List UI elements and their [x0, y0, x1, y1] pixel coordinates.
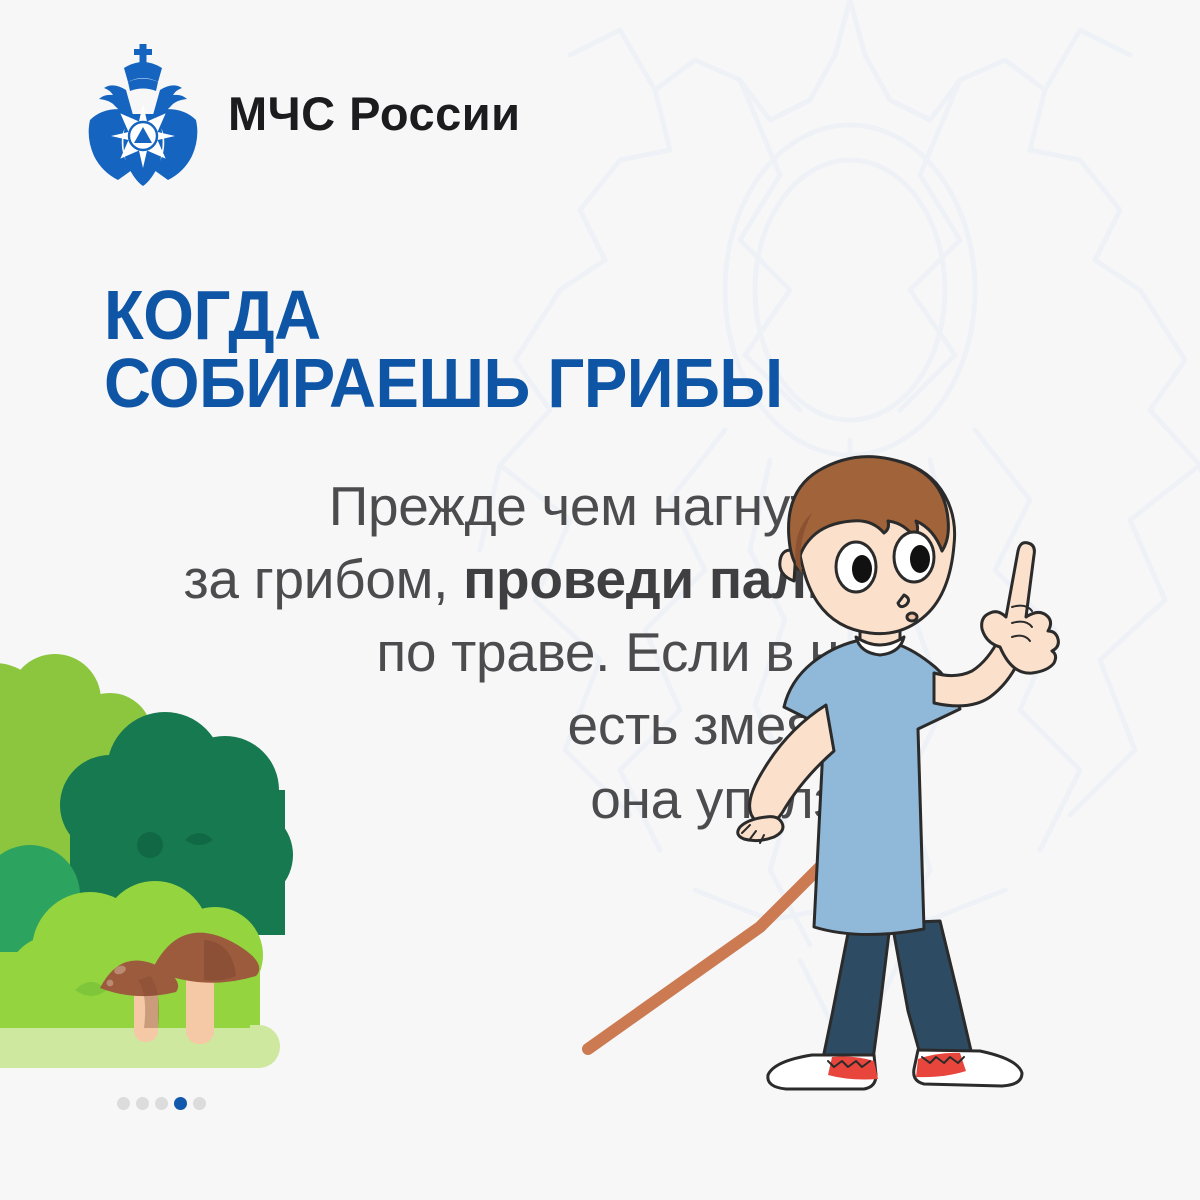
carousel-dot-5[interactable]: [193, 1097, 206, 1110]
carousel-dot-3[interactable]: [155, 1097, 168, 1110]
poster-root: МЧС России КОГДА СОБИРАЕШЬ ГРИБЫ Прежде …: [0, 0, 1200, 1200]
carousel-dot-2[interactable]: [136, 1097, 149, 1110]
forest-bushes-illustration: [0, 640, 360, 1070]
body-line-2-plain: за грибом,: [184, 548, 464, 610]
carousel-dot-1[interactable]: [117, 1097, 130, 1110]
brand-name: МЧС России: [228, 86, 521, 141]
brand-header: МЧС России: [84, 38, 521, 188]
page-title: КОГДА СОБИРАЕШЬ ГРИБЫ: [104, 282, 783, 418]
carousel-dot-4[interactable]: [174, 1097, 187, 1110]
carousel-dots[interactable]: [117, 1097, 206, 1110]
emercom-eagle-emblem-icon: [84, 38, 202, 188]
boy-with-stick-illustration: [560, 455, 1200, 1095]
